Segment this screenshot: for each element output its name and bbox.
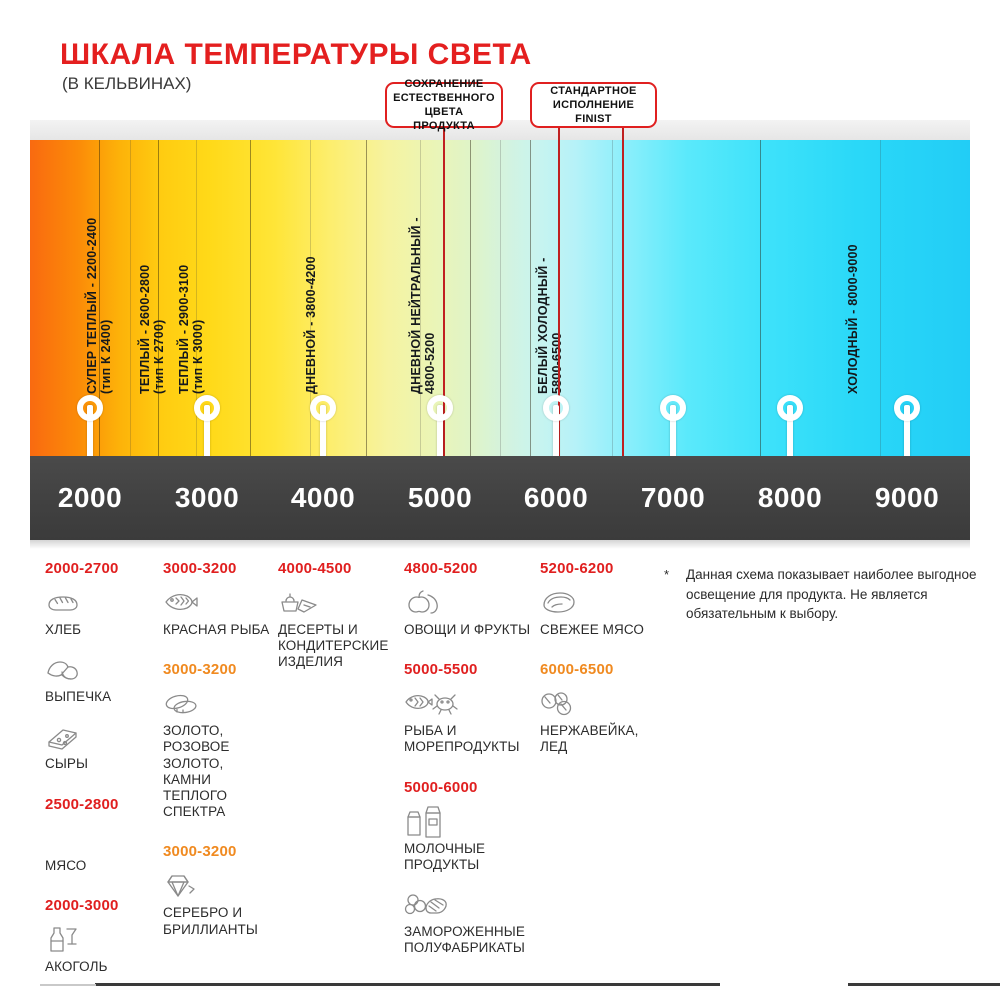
legend-item-label: РЫБА И МОРЕПРОДУКТЫ xyxy=(404,723,532,755)
legend-group-spacer xyxy=(163,833,271,843)
legend-group-spacer xyxy=(163,951,271,961)
legend-group-spacer xyxy=(404,769,532,779)
legend-item-label: ВЫПЕЧКА xyxy=(45,689,150,705)
legend-item: СЫРЫ xyxy=(45,718,150,772)
callout-label: СТАНДАРТНОЕ ИСПОЛНЕНИЕ FINIST xyxy=(538,84,649,126)
legend-range-header: 3000-3200 xyxy=(163,560,271,577)
legend-item-label: ХЛЕБ xyxy=(45,622,150,638)
legend-item: ЗОЛОТО, РОЗОВОЕ ЗОЛОТО, КАМНИ ТЕПЛОГО СП… xyxy=(163,685,271,820)
pin-ring xyxy=(427,395,453,421)
legend-item-label: МОЛОЧНЫЕ ПРОДУКТЫ xyxy=(404,841,532,873)
scale-number: 9000 xyxy=(875,482,939,514)
legend-item: МЯСО xyxy=(45,820,150,874)
band-label-main: ХОЛОДНЫЙ - 8000-9000 xyxy=(846,244,860,394)
band-label-main: БЕЛЫЙ ХОЛОДНЫЙ - xyxy=(536,257,550,394)
legend-range-header: 4800-5200 xyxy=(404,560,532,577)
pin-ring xyxy=(894,395,920,421)
footnote: * Данная схема показывает наиболее выгод… xyxy=(664,565,984,624)
seafood-icon xyxy=(404,685,532,721)
legend-group-spacer xyxy=(540,769,650,779)
infographic-root: ШКАЛА ТЕМПЕРАТУРЫ СВЕТА (В КЕЛЬВИНАХ) СО… xyxy=(0,0,1000,1000)
legend-item: ЗАМОРОЖЕННЫЕ ПОЛУФАБРИКАТЫ xyxy=(404,886,532,956)
pin-ring xyxy=(660,395,686,421)
spectrum-divider xyxy=(366,140,367,456)
legend-item: НЕРЖАВЕЙКА, ЛЕД xyxy=(540,685,650,755)
bottom-rule-right xyxy=(848,983,1000,986)
spectrum-band-label: ХОЛОДНЫЙ - 8000-9000 xyxy=(846,244,860,394)
legend-column: 4800-5200ОВОЩИ И ФРУКТЫ5000-5500РЫБА И М… xyxy=(404,560,532,979)
footnote-text: Данная схема показывает наиболее выгодно… xyxy=(686,565,984,624)
legend-item-label: СВЕЖЕЕ МЯСО xyxy=(540,622,650,638)
legend-item-label: МЯСО xyxy=(45,858,150,874)
scale-number: 2000 xyxy=(58,482,122,514)
spectrum-band-label: СУПЕР ТЕПЛЫЙ - 2200-2400(тип К 2400) xyxy=(85,218,113,394)
band-label-sub: (тип К 2700) xyxy=(152,265,166,394)
callout-label: СОХРАНЕНИЕ ЕСТЕСТВЕННОГО ЦВЕТА ПРОДУКТА xyxy=(393,77,495,133)
legend-item-label: НЕРЖАВЕЙКА, ЛЕД xyxy=(540,723,650,755)
legend-item: СВЕЖЕЕ МЯСО xyxy=(540,584,650,638)
legend-range-header: 5200-6200 xyxy=(540,560,650,577)
legend-range-header: 2500-2800 xyxy=(45,796,150,813)
legend-range-header: 5000-5500 xyxy=(404,661,532,678)
legend-range-header: 2000-2700 xyxy=(45,560,150,577)
legend-group-spacer xyxy=(45,786,150,796)
fresh-meat-icon xyxy=(540,584,650,620)
spectrum-bar: СУПЕР ТЕПЛЫЙ - 2200-2400(тип К 2400)ТЕПЛ… xyxy=(30,140,970,456)
spectrum-band-label: ТЕПЛЫЙ - 2600-2800(тип К 2700) xyxy=(138,265,166,394)
legend-group-spacer xyxy=(278,684,388,694)
pin-ring xyxy=(543,395,569,421)
pastry-icon xyxy=(45,651,150,687)
scale-number: 8000 xyxy=(758,482,822,514)
band-label-sub: 4800-5200 xyxy=(423,217,437,394)
footnote-star: * xyxy=(664,566,669,585)
callout-natural-color: СОХРАНЕНИЕ ЕСТЕСТВЕННОГО ЦВЕТА ПРОДУКТА xyxy=(385,82,503,128)
callout-leader-line xyxy=(622,128,624,456)
legend-item: ВЫПЕЧКА xyxy=(45,651,150,705)
pin-ring xyxy=(777,395,803,421)
legend-group-spacer xyxy=(540,651,650,661)
legend-item: СЕРЕБРО И БРИЛЛИАНТЫ xyxy=(163,867,271,937)
spectrum-band-label: ДНЕВНОЙ - 3800-4200 xyxy=(304,256,318,394)
legend-item-label: ОВОЩИ И ФРУКТЫ xyxy=(404,622,532,638)
cheese-icon xyxy=(45,718,150,754)
red-fish-icon xyxy=(163,584,271,620)
legend-column: 4000-4500ДЕСЕРТЫ И КОНДИТЕРСКИЕ ИЗДЕЛИЯ xyxy=(278,560,388,694)
band-label-main: ТЕПЛЫЙ - 2600-2800 xyxy=(138,265,152,394)
dairy-icon xyxy=(404,803,532,839)
legend-item: ХЛЕБ xyxy=(45,584,150,638)
legend-group-spacer xyxy=(404,651,532,661)
spectrum-divider xyxy=(760,140,761,456)
legend-range-header: 5000-6000 xyxy=(404,779,532,796)
band-label-sub: (тип К 2400) xyxy=(99,218,113,394)
legend-column: 2000-2700ХЛЕБВЫПЕЧКАСЫРЫ2500-2800МЯСО200… xyxy=(45,560,150,998)
spectrum-divider xyxy=(500,140,501,456)
legend-column: 5200-6200СВЕЖЕЕ МЯСО6000-6500НЕРЖАВЕЙКА,… xyxy=(540,560,650,779)
kelvin-scale-bar: 20003000400050006000700080009000 xyxy=(30,456,970,540)
bottom-rule-left-tail xyxy=(40,984,96,986)
legend-item: ОВОЩИ И ФРУКТЫ xyxy=(404,584,532,638)
bread-icon xyxy=(45,584,150,620)
page-subtitle: (В КЕЛЬВИНАХ) xyxy=(62,74,191,94)
spectrum-band-label: ДНЕВНОЙ НЕЙТРАЛЬНЫЙ -4800-5200 xyxy=(409,217,437,394)
scale-number: 3000 xyxy=(175,482,239,514)
spectrum-divider xyxy=(530,140,531,456)
scale-number: 6000 xyxy=(524,482,588,514)
legend-item: МОЛОЧНЫЕ ПРОДУКТЫ xyxy=(404,803,532,873)
pin-ring xyxy=(310,395,336,421)
legend-item: КРАСНАЯ РЫБА xyxy=(163,584,271,638)
dessert-icon xyxy=(278,584,388,620)
legend-item: РЫБА И МОРЕПРОДУКТЫ xyxy=(404,685,532,755)
spectrum-divider xyxy=(130,140,131,456)
scale-number: 7000 xyxy=(641,482,705,514)
legend-item-label: ЗАМОРОЖЕННЫЕ ПОЛУФАБРИКАТЫ xyxy=(404,924,532,956)
spectrum-divider xyxy=(470,140,471,456)
fruit-icon xyxy=(404,584,532,620)
band-label-main: ДНЕВНОЙ НЕЙТРАЛЬНЫЙ - xyxy=(409,217,423,394)
band-label-sub: (тип К 3000) xyxy=(191,265,205,394)
band-label-main: ДНЕВНОЙ - 3800-4200 xyxy=(304,256,318,394)
spectrum-divider xyxy=(612,140,613,456)
legend-item-label: СЫРЫ xyxy=(45,756,150,772)
legend-range-header: 4000-4500 xyxy=(278,560,388,577)
legend-column: 3000-3200КРАСНАЯ РЫБА3000-3200ЗОЛОТО, РО… xyxy=(163,560,271,961)
frozen-food-icon xyxy=(404,886,532,922)
scale-number: 4000 xyxy=(291,482,355,514)
alcohol-icon xyxy=(45,921,150,957)
legend-range-header: 6000-6500 xyxy=(540,661,650,678)
page-title: ШКАЛА ТЕМПЕРАТУРЫ СВЕТА xyxy=(60,38,532,72)
callout-finist-standard: СТАНДАРТНОЕ ИСПОЛНЕНИЕ FINIST xyxy=(530,82,657,128)
diamond-icon xyxy=(163,867,271,903)
legend-item-label: СЕРЕБРО И БРИЛЛИАНТЫ xyxy=(163,905,271,937)
spectrum-divider xyxy=(250,140,251,456)
band-label-main: ТЕПЛЫЙ - 2900-3100 xyxy=(177,265,191,394)
legend-item-label: АКОГОЛЬ xyxy=(45,959,150,975)
bottom-rule-left xyxy=(95,983,720,986)
legend-group-spacer xyxy=(45,887,150,897)
legend-group-spacer xyxy=(163,651,271,661)
legend-group-spacer xyxy=(45,988,150,998)
legend-range-header: 3000-3200 xyxy=(163,661,271,678)
band-label-sub: 5800-6500 xyxy=(550,257,564,394)
legend-group-spacer xyxy=(404,969,532,979)
band-label-main: СУПЕР ТЕПЛЫЙ - 2200-2400 xyxy=(85,218,99,394)
legend-item-label: ДЕСЕРТЫ И КОНДИТЕРСКИЕ ИЗДЕЛИЯ xyxy=(278,622,388,671)
spectrum-divider xyxy=(880,140,881,456)
legend-range-header: 3000-3200 xyxy=(163,843,271,860)
legend-item-label: КРАСНАЯ РЫБА xyxy=(163,622,271,638)
gold-rings-icon xyxy=(163,685,271,721)
legend-item-label: ЗОЛОТО, РОЗОВОЕ ЗОЛОТО, КАМНИ ТЕПЛОГО СП… xyxy=(163,723,271,820)
legend-item: АКОГОЛЬ xyxy=(45,921,150,975)
ice-icon xyxy=(540,685,650,721)
legend-item: ДЕСЕРТЫ И КОНДИТЕРСКИЕ ИЗДЕЛИЯ xyxy=(278,584,388,671)
pin-ring xyxy=(77,395,103,421)
pin-ring xyxy=(194,395,220,421)
legend-range-header: 2000-3000 xyxy=(45,897,150,914)
meat-icon xyxy=(45,820,150,856)
scale-number: 5000 xyxy=(408,482,472,514)
spectrum-band-label: ТЕПЛЫЙ - 2900-3100(тип К 3000) xyxy=(177,265,205,394)
